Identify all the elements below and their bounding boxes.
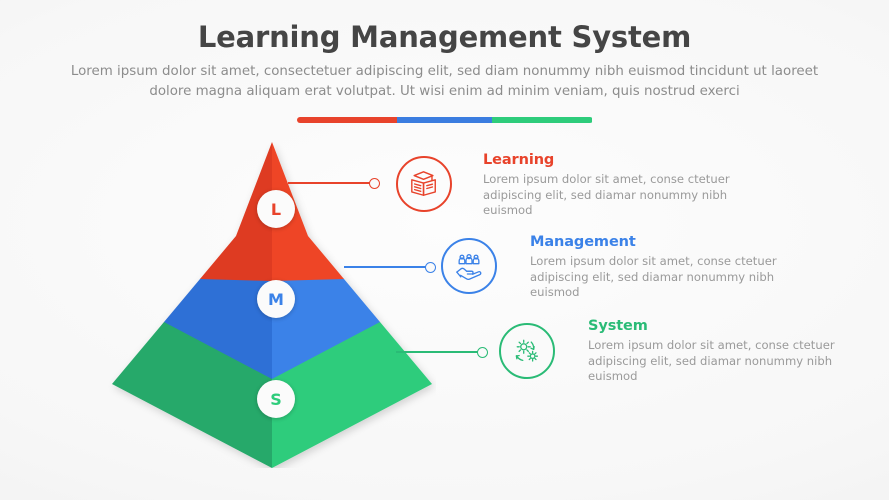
divider-segment-red: [297, 117, 398, 123]
text-block-learning: Learning Lorem ipsum dolor sit amet, con…: [483, 152, 733, 219]
page-subtitle: Lorem ipsum dolor sit amet, consectetuer…: [60, 62, 830, 102]
connector-system: [396, 346, 488, 358]
connector-dot: [369, 178, 380, 189]
divider: [297, 117, 593, 123]
pyramid-diagram: L M S: [108, 136, 436, 468]
book-graduation-cap-icon[interactable]: [396, 156, 452, 212]
connector-line: [344, 266, 426, 268]
item-heading-management: Management: [530, 234, 780, 250]
item-heading-system: System: [588, 318, 838, 334]
connector-line: [396, 351, 478, 353]
item-body-management: Lorem ipsum dolor sit amet, conse ctetue…: [530, 254, 780, 301]
item-body-learning: Lorem ipsum dolor sit amet, conse ctetue…: [483, 172, 733, 219]
item-heading-learning: Learning: [483, 152, 733, 168]
item-body-system: Lorem ipsum dolor sit amet, conse ctetue…: [588, 338, 838, 385]
gears-process-icon[interactable]: [499, 323, 555, 379]
text-block-system: System Lorem ipsum dolor sit amet, conse…: [588, 318, 838, 385]
connector-dot: [425, 262, 436, 273]
pyramid-badge-learning: L: [257, 190, 295, 228]
connector-learning: [288, 177, 380, 189]
pyramid-badge-management: M: [257, 280, 295, 318]
connector-dot: [477, 347, 488, 358]
connector-management: [344, 261, 436, 273]
text-block-management: Management Lorem ipsum dolor sit amet, c…: [530, 234, 780, 301]
connector-line: [288, 182, 370, 184]
page-title: Learning Management System: [0, 20, 889, 54]
infographic-slide: Learning Management System Lorem ipsum d…: [0, 0, 889, 500]
hand-holding-people-icon[interactable]: [441, 238, 497, 294]
pyramid-badge-system: S: [257, 380, 295, 418]
divider-segment-blue: [397, 117, 492, 123]
divider-segment-green: [492, 117, 593, 123]
